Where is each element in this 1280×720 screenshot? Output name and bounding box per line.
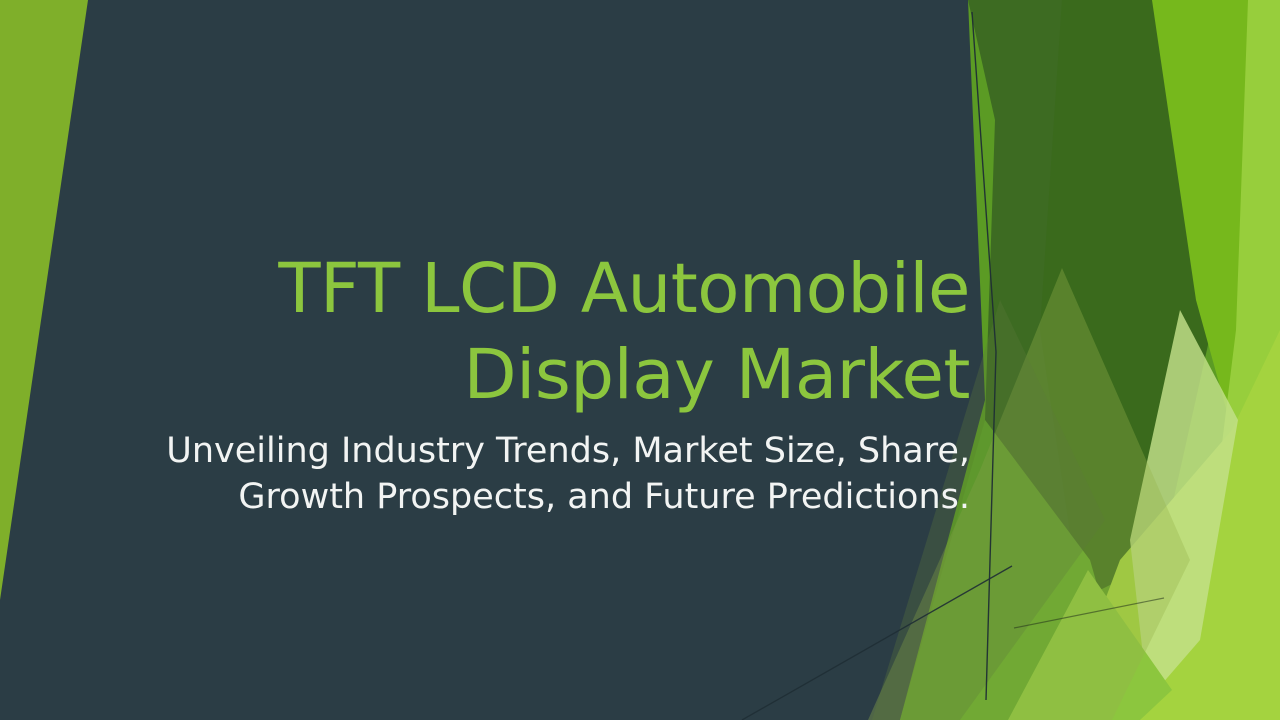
page-subtitle: Unveiling Industry Trends, Market Size, … (150, 428, 970, 520)
subtitle-block: Unveiling Industry Trends, Market Size, … (150, 428, 970, 520)
title-block: TFT LCD Automobile Display Market (150, 246, 970, 419)
title-slide: TFT LCD Automobile Display Market Unveil… (0, 0, 1280, 720)
slide-text-layer: TFT LCD Automobile Display Market Unveil… (0, 0, 1280, 720)
page-title: TFT LCD Automobile Display Market (150, 246, 970, 419)
